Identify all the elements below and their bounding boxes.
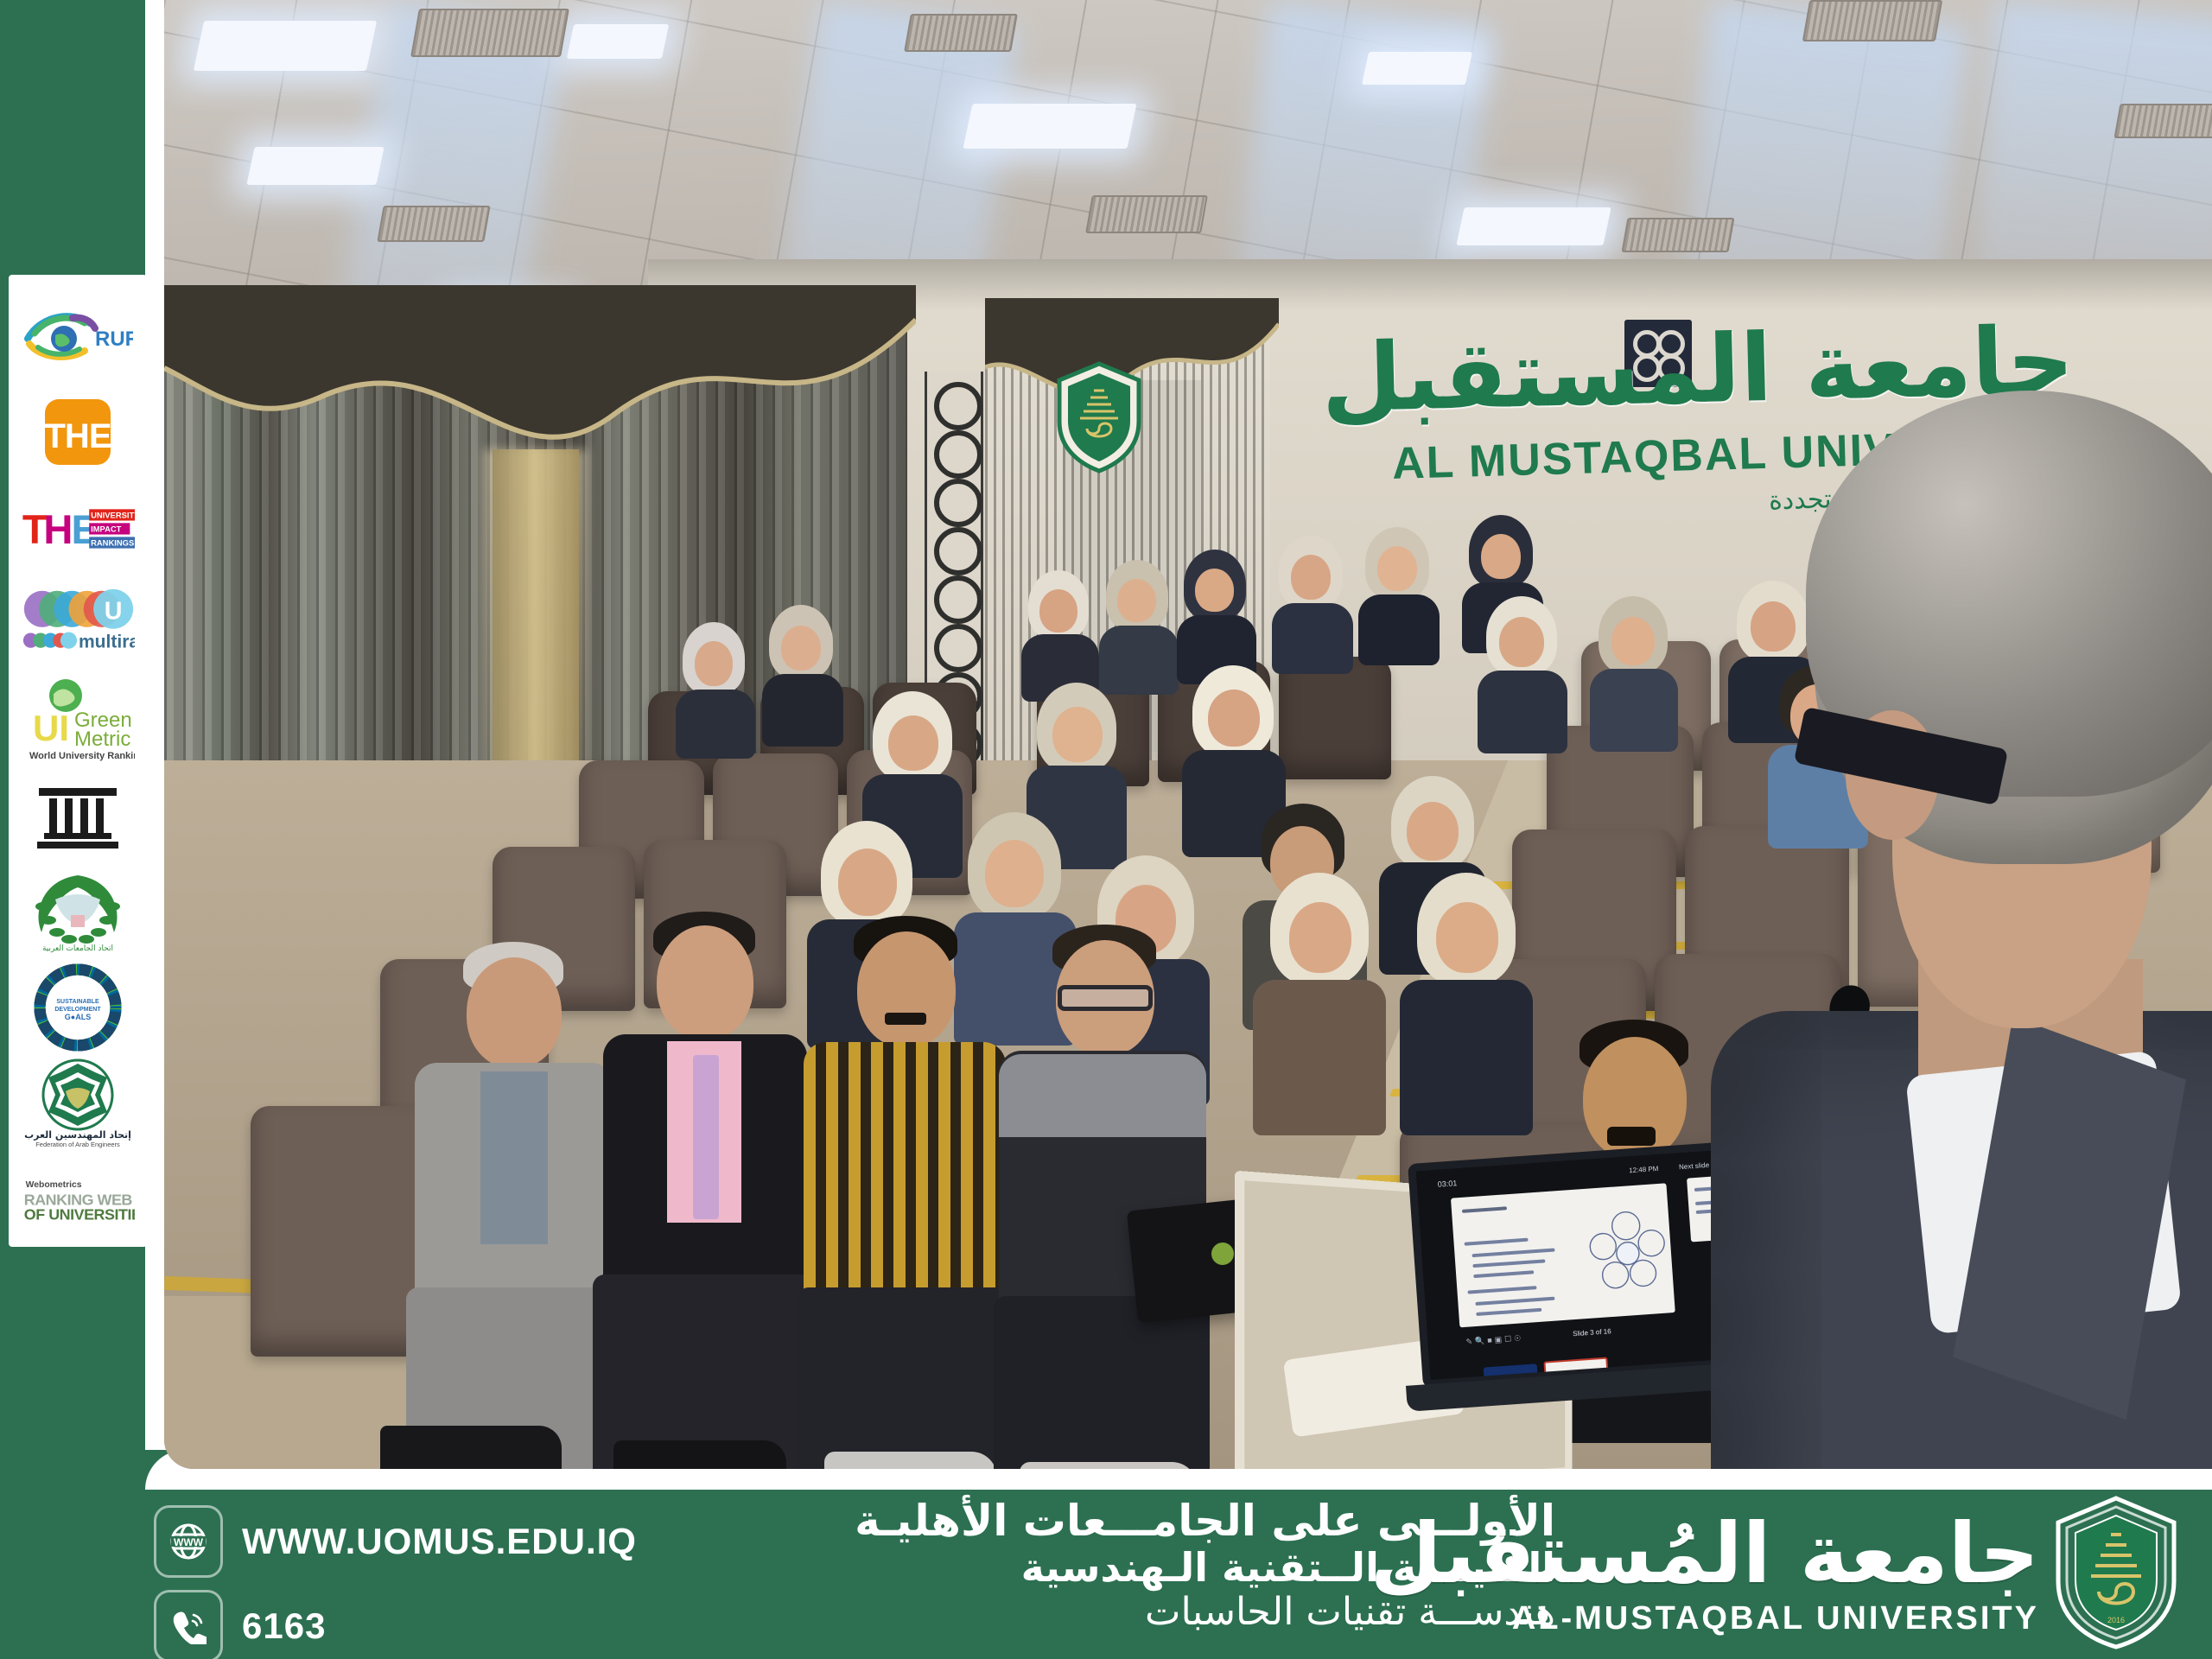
svg-text:G●ALS: G●ALS [65,1013,91,1021]
footer-phone-label: 6163 [242,1605,326,1647]
ranking-logo-ui-greenmetric: UI Green Metric World University Ranking… [21,672,135,768]
svg-text:THE: THE [45,417,111,455]
mustaqbal-shield-emblem: 2016 [2051,1495,2181,1655]
svg-text:multirank: multirank [79,632,135,652]
svg-text:اتحاد الجامعات العربية: اتحاد الجامعات العربية [42,944,113,953]
ranking-logo-sdg: SUSTAINABLE DEVELOPMENT G●ALS [21,959,135,1055]
svg-text:RANKINGS: RANKINGS [91,538,134,548]
footer-bar: WWW WWW.UOMUS.EDU.IQ 6163 الأولـــى على … [0,1490,2212,1659]
svg-text:Metric: Metric [74,728,130,751]
footer-website-row[interactable]: WWW WWW.UOMUS.EDU.IQ [154,1505,638,1578]
svg-text:WWW: WWW [174,1536,204,1548]
ranking-logo-federation-arab-engineers: إتحاد المهندسين العرب Federation of Arab… [21,1055,135,1151]
footer-phone-row[interactable]: 6163 [154,1590,638,1659]
svg-text:H: H [43,506,70,552]
svg-text:إتحاد المهندسين العرب: إتحاد المهندسين العرب [24,1129,131,1141]
ranking-logo-umultirank: U multirank [21,576,135,672]
svg-text:SUSTAINABLE: SUSTAINABLE [56,999,99,1005]
svg-text:Webometrics: Webometrics [26,1179,82,1189]
footer-brand-english: AL-MUSTAQBAL UNIVERSITY [1370,1600,2039,1637]
svg-text:IMPACT: IMPACT [91,524,122,534]
www-globe-icon: WWW [154,1505,223,1578]
ranking-logo-the-impact: T H E UNIVERSITY IMPACT RANKINGS [21,480,135,576]
university-rankings-logos: RUR THE T H E UNIVERSITY IMPACT RANKINGS [9,275,147,1247]
footer-website-label: WWW.UOMUS.EDU.IQ [242,1521,637,1562]
svg-text:UNIVERSITY: UNIVERSITY [91,511,135,520]
footer-brand: جامعة المُستقبل AL-MUSTAQBAL UNIVERSITY … [1370,1495,2181,1655]
lecture-hall-photo: جامعة المستقبل AL MUSTAQBAL UNIVERSITY ص… [164,0,2212,1469]
svg-text:UI: UI [33,708,69,748]
svg-text:U: U [105,597,123,625]
ranking-logo-webometrics: Webometrics RANKING WEB OF UNIVERSITIES [21,1151,135,1247]
svg-text:OF UNIVERSITIES: OF UNIVERSITIES [24,1205,135,1223]
ranking-logo-the: THE [21,385,135,480]
speaker-foreground [1789,406,2212,1469]
svg-text:2016: 2016 [2107,1616,2125,1624]
poster-canvas: جامعة المستقبل AL MUSTAQBAL UNIVERSITY ص… [0,0,2212,1659]
svg-text:RUR: RUR [95,327,133,351]
curtain-valance [164,285,907,449]
svg-text:World University Rankings: World University Rankings [29,751,135,761]
ranking-logo-rur: RUR [21,289,135,385]
ranking-logo-unesco [21,768,135,864]
footer-brand-arabic: جامعة المُستقبل [1370,1512,2039,1595]
svg-text:DEVELOPMENT: DEVELOPMENT [54,1007,101,1013]
phone-icon [154,1590,223,1659]
mustaqbal-shield-emblem [1054,361,1144,478]
svg-text:Federation of Arab Engineers: Federation of Arab Engineers [35,1141,120,1148]
ranking-logo-aaru: اتحاد الجامعات العربية [21,863,135,959]
footer-contact: WWW WWW.UOMUS.EDU.IQ 6163 [154,1505,638,1659]
